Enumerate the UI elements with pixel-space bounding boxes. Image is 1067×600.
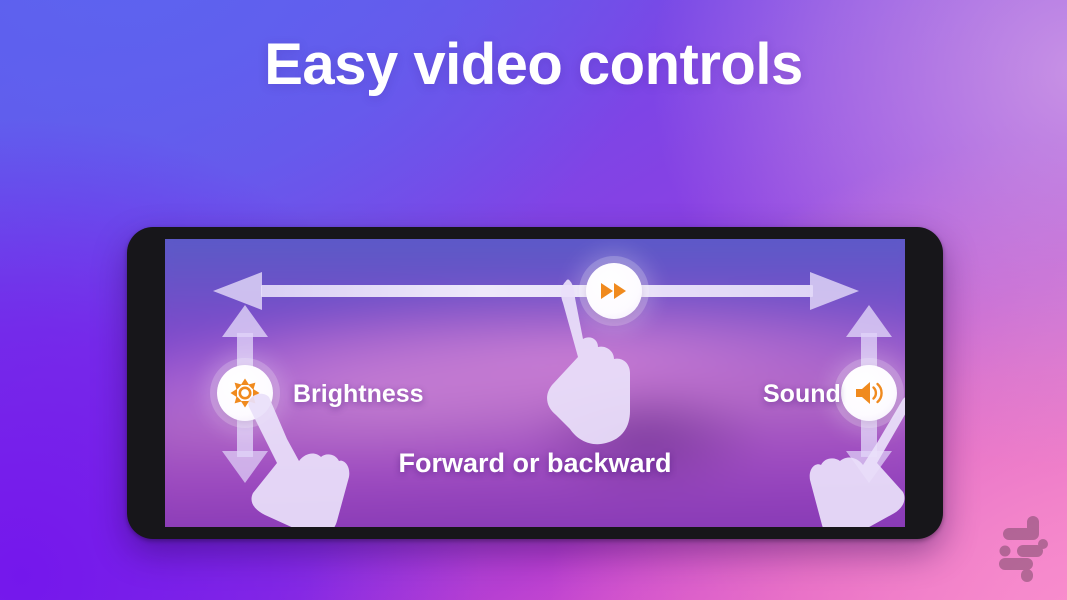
page-title: Easy video controls (0, 33, 1067, 97)
store-logo-watermark (987, 512, 1049, 582)
sound-knob-button[interactable] (841, 365, 897, 421)
promo-screenshot-canvas: Easy video controls (0, 0, 1067, 600)
fast-forward-icon (601, 281, 627, 301)
seek-track[interactable] (213, 285, 859, 297)
sound-label: Sound (763, 380, 841, 409)
phone-device-frame: Brightness Sound (127, 227, 943, 539)
seek-bar[interactable] (261, 285, 813, 297)
store-logo-icon (987, 512, 1049, 582)
brightness-knob-button[interactable] (217, 365, 273, 421)
seek-label: Forward or backward (165, 448, 905, 479)
speaker-volume-icon (854, 380, 884, 406)
brightness-sun-icon (230, 378, 260, 408)
seek-knob-button[interactable] (586, 263, 642, 319)
brightness-label: Brightness (293, 380, 424, 409)
phone-screen: Brightness Sound (165, 239, 905, 527)
